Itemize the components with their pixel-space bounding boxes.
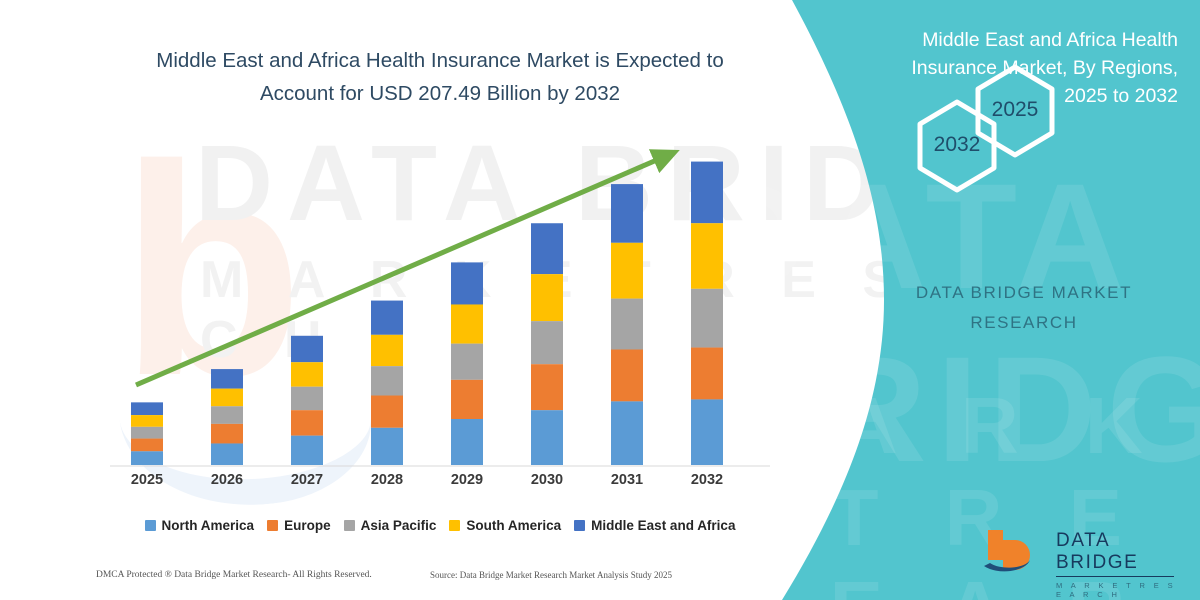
bar-segment — [691, 289, 723, 348]
legend-label: North America — [162, 518, 255, 533]
logo-sub-text: M A R K E T R E S E A R C H — [1056, 581, 1182, 599]
bar-segment — [291, 336, 323, 362]
bar-segment — [531, 274, 563, 321]
bar-segment — [131, 451, 163, 465]
legend-swatch-icon — [574, 520, 585, 531]
bar-segment — [611, 184, 643, 243]
logo-wordmark: DATA BRIDGE M A R K E T R E S E A R C H — [1056, 530, 1182, 599]
footer-source: Source: Data Bridge Market Research Mark… — [430, 570, 672, 580]
legend-label: Middle East and Africa — [591, 518, 735, 533]
bar-segment — [691, 223, 723, 289]
logo-mark-icon — [982, 526, 1048, 580]
bar-segment — [531, 410, 563, 465]
bar-segment — [451, 380, 483, 419]
bar-segment — [531, 223, 563, 274]
legend-item[interactable]: Asia Pacific — [344, 518, 437, 533]
bar-segment — [611, 401, 643, 465]
teal-side-panel: DATA BRIDGE M A R K E T R E S E A R C H … — [760, 0, 1200, 600]
bar-segment — [691, 348, 723, 400]
legend-swatch-icon — [145, 520, 156, 531]
bar-segment — [291, 410, 323, 435]
bar-segment — [451, 262, 483, 304]
bar-segment — [371, 396, 403, 428]
bar-segment — [691, 399, 723, 465]
bar-segment — [371, 335, 403, 366]
bar-segment — [371, 301, 403, 335]
bar-segment — [611, 243, 643, 299]
bar-segment — [611, 299, 643, 350]
panel-brand-line1: DATA BRIDGE MARKET — [874, 278, 1174, 308]
bar-segment — [291, 387, 323, 410]
footer-copyright: DMCA Protected ® Data Bridge Market Rese… — [96, 570, 372, 580]
x-axis-tick-2025: 2025 — [117, 472, 177, 488]
bar-segment — [291, 362, 323, 386]
bar-segment — [291, 436, 323, 465]
bar-segment — [611, 350, 643, 402]
bar-segment — [211, 424, 243, 444]
bar-segment — [451, 419, 483, 465]
bar-segment — [451, 344, 483, 380]
legend-label: Asia Pacific — [361, 518, 437, 533]
bar-segment — [211, 443, 243, 465]
panel-title: Middle East and Africa Health Insurance … — [878, 26, 1178, 110]
chart-legend: North AmericaEuropeAsia PacificSouth Ame… — [110, 512, 770, 538]
legend-item[interactable]: South America — [449, 518, 561, 533]
legend-item[interactable]: North America — [145, 518, 255, 533]
data-bridge-logo: DATA BRIDGE M A R K E T R E S E A R C H — [982, 524, 1182, 582]
bar-segment — [691, 162, 723, 224]
logo-divider — [1056, 576, 1174, 577]
logo-main-text: DATA BRIDGE — [1056, 530, 1182, 574]
x-axis-tick-2030: 2030 — [517, 472, 577, 488]
infographic-canvas: b DATA BRIDGE M A R K E T R E S E A R C … — [0, 0, 1200, 600]
x-axis-tick-2031: 2031 — [597, 472, 657, 488]
x-axis-tick-2027: 2027 — [277, 472, 337, 488]
x-axis-tick-2028: 2028 — [357, 472, 417, 488]
bar-segment — [531, 321, 563, 364]
bar-segment — [131, 415, 163, 427]
bar-segment — [451, 304, 483, 343]
bar-segment — [131, 427, 163, 439]
legend-item[interactable]: Europe — [267, 518, 331, 533]
legend-label: South America — [466, 518, 561, 533]
bar-segment — [131, 402, 163, 415]
x-axis-tick-2029: 2029 — [437, 472, 497, 488]
chart-title: Middle East and Africa Health Insurance … — [120, 44, 760, 110]
x-axis-labels: 20252026202720282029203020312032 — [110, 472, 770, 498]
chart-plot-area — [110, 140, 770, 470]
legend-swatch-icon — [267, 520, 278, 531]
legend-label: Europe — [284, 518, 331, 533]
x-axis-tick-2026: 2026 — [197, 472, 257, 488]
bar-segment — [211, 369, 243, 389]
bar-segment — [131, 439, 163, 452]
x-axis-tick-2032: 2032 — [677, 472, 737, 488]
bar-segment — [371, 428, 403, 465]
panel-brand: DATA BRIDGE MARKET RESEARCH — [874, 278, 1174, 338]
bar-segment — [211, 389, 243, 407]
bar-segment — [371, 366, 403, 395]
stacked-bar-chart — [110, 140, 770, 470]
bars-group — [131, 162, 723, 465]
bar-segment — [531, 364, 563, 410]
legend-swatch-icon — [449, 520, 460, 531]
panel-brand-line2: RESEARCH — [874, 308, 1174, 338]
bar-segment — [211, 406, 243, 424]
legend-swatch-icon — [344, 520, 355, 531]
legend-item[interactable]: Middle East and Africa — [574, 518, 735, 533]
